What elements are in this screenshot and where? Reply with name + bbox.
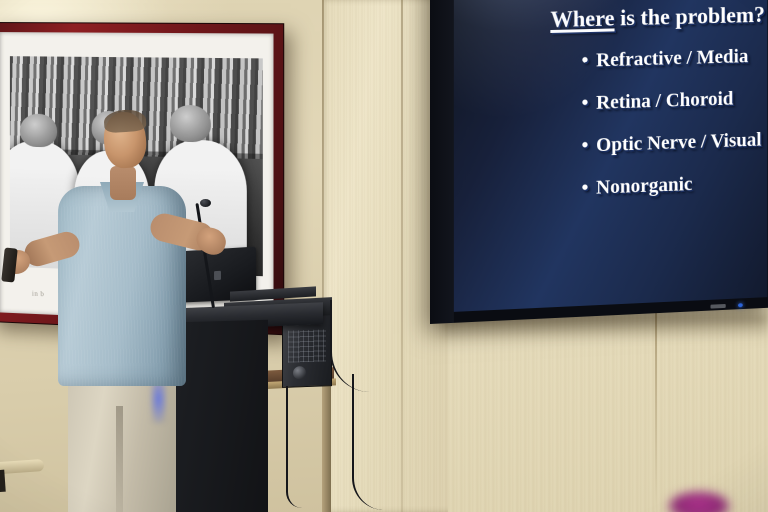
tv-bezel — [430, 0, 454, 324]
slide-bullet: Optic Nerve / Visual — [582, 129, 762, 158]
slide-heading-underlined: Where — [550, 6, 614, 32]
speaker-leg-seam — [116, 406, 123, 512]
slide-heading: Where is the problem? — [550, 2, 765, 33]
stool-leg — [322, 386, 331, 512]
cable — [352, 374, 384, 510]
photo-head — [20, 113, 57, 148]
laptop-logo-icon — [214, 271, 221, 280]
tv-screen: Unexplained V Where is the problem? Refr… — [454, 0, 768, 312]
tv-brand-mark — [711, 304, 726, 309]
wall-mounted-tv: Unexplained V Where is the problem? Refr… — [430, 0, 768, 324]
rack-vent-grid — [288, 329, 326, 362]
microphone-head-icon — [200, 199, 211, 207]
rack-knob[interactable] — [293, 366, 306, 379]
presentation-slide: Unexplained V Where is the problem? Refr… — [454, 0, 768, 312]
slide-bullet: Retina / Choroid — [582, 87, 762, 115]
cable — [286, 386, 302, 508]
slide-bullet-list: Refractive / Media Retina / Choroid Opti… — [582, 45, 762, 220]
slide-bullet: Nonorganic — [582, 171, 762, 200]
photo-mat-caption: in b — [32, 290, 44, 299]
tv-power-led-icon — [738, 303, 743, 307]
lecture-room-photo: in b Unexplained V Where is the problem?… — [0, 0, 768, 512]
speaker-neck — [110, 166, 136, 200]
slide-heading-rest: is the problem? — [615, 2, 765, 30]
photo-head — [170, 105, 211, 142]
wall-seam-mid — [401, 0, 403, 512]
slide-bullet: Refractive / Media — [582, 45, 762, 72]
speaker-lanyard-glow — [150, 382, 167, 424]
